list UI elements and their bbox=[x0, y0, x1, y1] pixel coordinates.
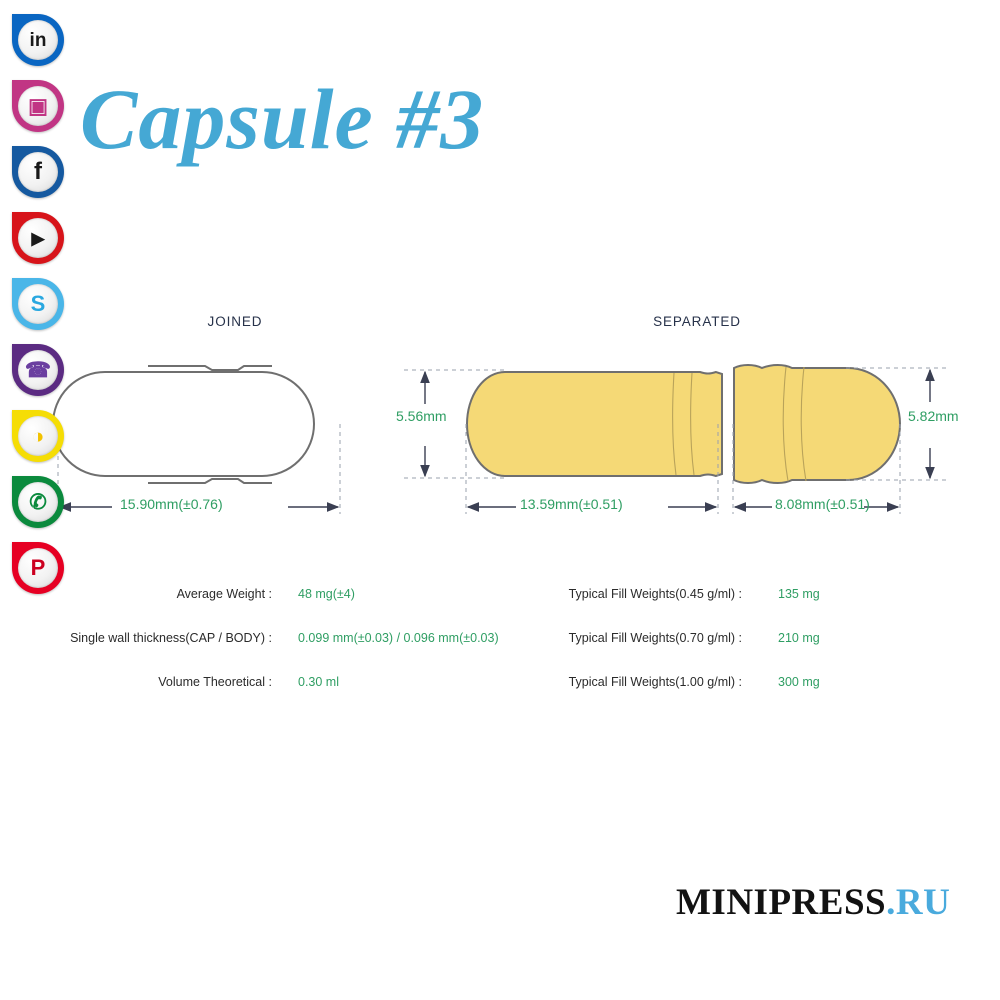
social-glyph-instagram: ▣ bbox=[28, 96, 48, 117]
linkedin-icon: in bbox=[18, 20, 58, 60]
page-title: Capsule #3 bbox=[80, 76, 484, 162]
spec-label-right: Typical Fill Weights(0.70 g/ml) : bbox=[520, 631, 750, 645]
spec-value-right: 210 mg bbox=[750, 631, 950, 645]
dimension-cap-length: 8.08mm(±0.51) bbox=[775, 496, 870, 512]
separated-body-shape bbox=[404, 370, 722, 514]
social-link-whatsapp[interactable]: ✆ bbox=[12, 476, 64, 528]
spec-label-right: Typical Fill Weights(0.45 g/ml) : bbox=[520, 587, 750, 601]
dimension-body-length: 13.59mm(±0.51) bbox=[520, 496, 623, 512]
spec-value-left: 48 mg(±4) bbox=[280, 587, 520, 601]
social-glyph-viber: ☎ bbox=[25, 360, 51, 381]
social-share-rail: in▣f▶S☎◑✆P bbox=[12, 14, 70, 594]
social-link-skype[interactable]: S bbox=[12, 278, 64, 330]
spec-label-right: Typical Fill Weights(1.00 g/ml) : bbox=[520, 675, 750, 689]
spec-label-left: Single wall thickness(CAP / BODY) : bbox=[0, 631, 280, 645]
skype-icon: S bbox=[18, 284, 58, 324]
facebook-icon: f bbox=[18, 152, 58, 192]
spec-value-right: 135 mg bbox=[750, 587, 950, 601]
dimension-cap-height: 5.82mm bbox=[908, 408, 959, 424]
social-link-viber[interactable]: ☎ bbox=[12, 344, 64, 396]
logo-tld-text: .RU bbox=[886, 882, 950, 923]
spec-row: Single wall thickness(CAP / BODY) :0.099… bbox=[0, 616, 1000, 660]
spec-row: Average Weight :48 mg(±4)Typical Fill We… bbox=[0, 572, 1000, 616]
capsule-diagram: JOINED SEPARATED bbox=[0, 296, 1000, 556]
social-glyph-whatsapp: ✆ bbox=[29, 492, 47, 513]
instagram-icon: ▣ bbox=[18, 86, 58, 126]
snapchat-icon: ◑ bbox=[18, 416, 58, 456]
spec-label-left: Volume Theoretical : bbox=[0, 675, 280, 689]
social-link-instagram[interactable]: ▣ bbox=[12, 80, 64, 132]
logo-main-text: MINIPRESS bbox=[676, 882, 886, 923]
capsule-spec-page: in▣f▶S☎◑✆P Capsule #3 JOINED SEPARATED bbox=[0, 0, 1000, 1000]
social-link-linkedin[interactable]: in bbox=[12, 14, 64, 66]
specification-table: Average Weight :48 mg(±4)Typical Fill We… bbox=[0, 572, 1000, 704]
social-glyph-facebook: f bbox=[34, 160, 42, 184]
social-glyph-youtube: ▶ bbox=[31, 230, 44, 247]
viber-icon: ☎ bbox=[18, 350, 58, 390]
social-link-pinterest[interactable]: P bbox=[12, 542, 64, 594]
spec-value-left: 0.30 ml bbox=[280, 675, 520, 689]
site-logo[interactable]: MINIPRESS.RU bbox=[676, 884, 950, 921]
social-link-snapchat[interactable]: ◑ bbox=[12, 410, 64, 462]
social-glyph-linkedin: in bbox=[30, 31, 47, 50]
spec-value-left: 0.099 mm(±0.03) / 0.096 mm(±0.03) bbox=[280, 631, 520, 645]
dimension-body-height: 5.56mm bbox=[396, 408, 447, 424]
social-link-facebook[interactable]: f bbox=[12, 146, 64, 198]
whatsapp-icon: ✆ bbox=[18, 482, 58, 522]
social-glyph-snapchat: ◑ bbox=[32, 426, 45, 447]
social-glyph-skype: S bbox=[31, 293, 46, 315]
pinterest-icon: P bbox=[18, 548, 58, 588]
joined-capsule-outline bbox=[53, 366, 340, 514]
spec-value-right: 300 mg bbox=[750, 675, 950, 689]
spec-row: Volume Theoretical :0.30 mlTypical Fill … bbox=[0, 660, 1000, 704]
dimension-joined-length: 15.90mm(±0.76) bbox=[120, 496, 223, 512]
youtube-icon: ▶ bbox=[18, 218, 58, 258]
capsule-drawing-svg bbox=[0, 296, 1000, 556]
separated-cap-shape bbox=[733, 365, 950, 514]
social-glyph-pinterest: P bbox=[31, 557, 46, 579]
social-link-youtube[interactable]: ▶ bbox=[12, 212, 64, 264]
